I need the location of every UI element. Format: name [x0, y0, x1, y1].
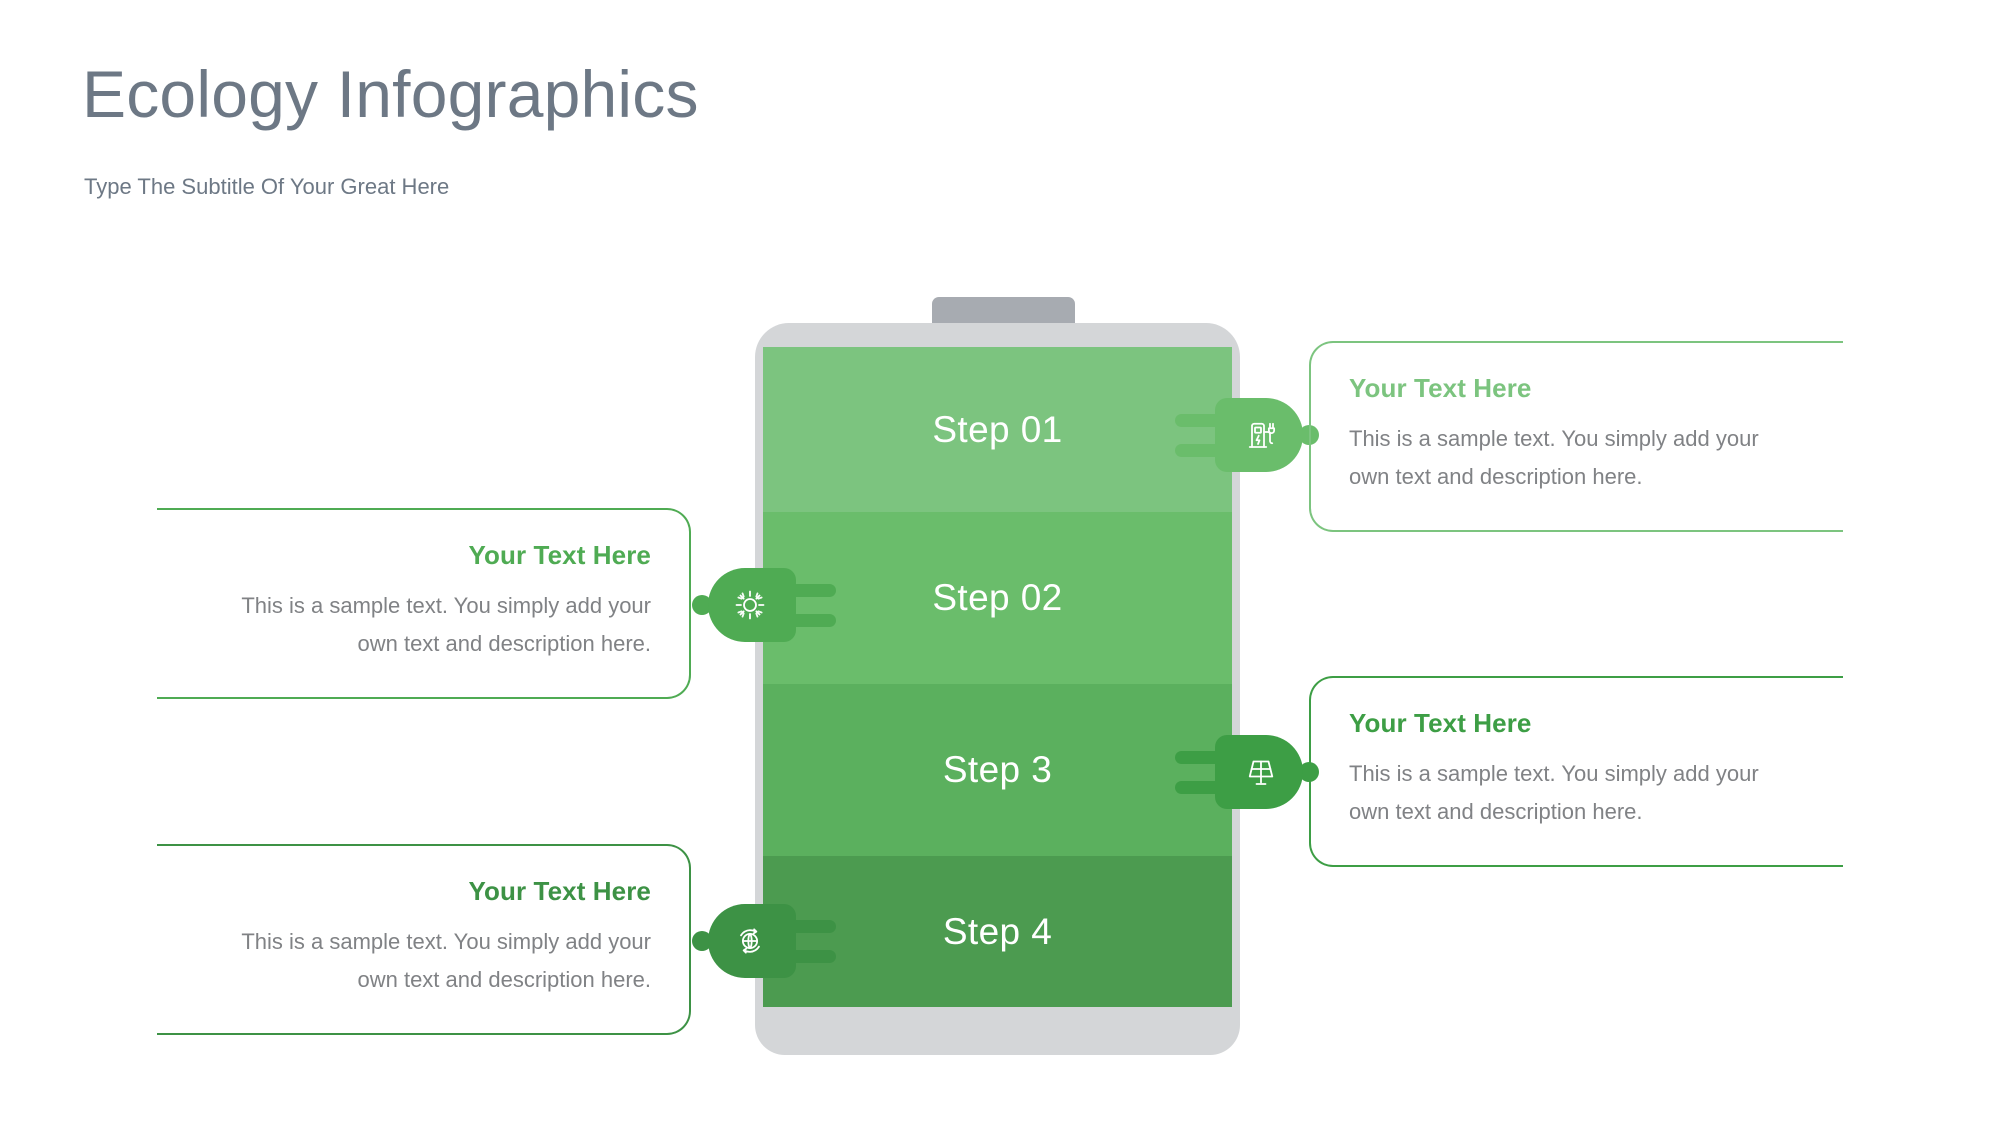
callout-heading: Your Text Here	[1349, 708, 1805, 739]
callout-heading: Your Text Here	[195, 540, 651, 571]
battery-segment-label: Step 01	[932, 409, 1062, 451]
battery-graphic: Step 01 Step 02 Step 3 Step 4	[755, 297, 1240, 1055]
battery-segment-label: Step 4	[943, 911, 1052, 953]
badge-solar-panel[interactable]	[1215, 735, 1319, 809]
callout-heading: Your Text Here	[195, 876, 651, 907]
callout-card-1[interactable]: Your Text Here This is a sample text. Yo…	[1309, 341, 1843, 532]
callout-body: This is a sample text. You simply add yo…	[195, 923, 651, 999]
badge-sun[interactable]	[692, 568, 796, 642]
callout-body: This is a sample text. You simply add yo…	[1349, 755, 1805, 831]
ev-charging-station-icon	[1243, 417, 1279, 453]
badge-prong	[790, 614, 836, 627]
page-title: Ecology Infographics	[82, 56, 699, 132]
badge-prong	[790, 950, 836, 963]
battery-segment-2[interactable]: Step 02	[763, 512, 1232, 684]
battery-segment-3[interactable]: Step 3	[763, 684, 1232, 856]
badge-prong	[790, 584, 836, 597]
slide-canvas: Ecology Infographics Type The Subtitle O…	[0, 0, 2000, 1125]
callout-card-2[interactable]: Your Text Here This is a sample text. Yo…	[157, 508, 691, 699]
battery-segment-label: Step 3	[943, 749, 1052, 791]
badge-prong	[790, 920, 836, 933]
battery-segment-1[interactable]: Step 01	[763, 347, 1232, 512]
badge-globe-recycle[interactable]	[692, 904, 796, 978]
globe-recycle-icon	[732, 923, 768, 959]
callout-body: This is a sample text. You simply add yo…	[1349, 420, 1805, 496]
battery-fill: Step 01 Step 02 Step 3 Step 4	[763, 347, 1232, 1007]
battery-segment-label: Step 02	[932, 577, 1062, 619]
callout-body: This is a sample text. You simply add yo…	[195, 587, 651, 663]
solar-panel-icon	[1243, 754, 1279, 790]
callout-card-3[interactable]: Your Text Here This is a sample text. Yo…	[1309, 676, 1843, 867]
badge-ev-charging-station[interactable]	[1215, 398, 1319, 472]
page-subtitle: Type The Subtitle Of Your Great Here	[84, 174, 449, 200]
battery-terminal-cap	[932, 297, 1075, 325]
callout-card-4[interactable]: Your Text Here This is a sample text. Yo…	[157, 844, 691, 1035]
callout-heading: Your Text Here	[1349, 373, 1805, 404]
sun-icon	[732, 587, 768, 623]
